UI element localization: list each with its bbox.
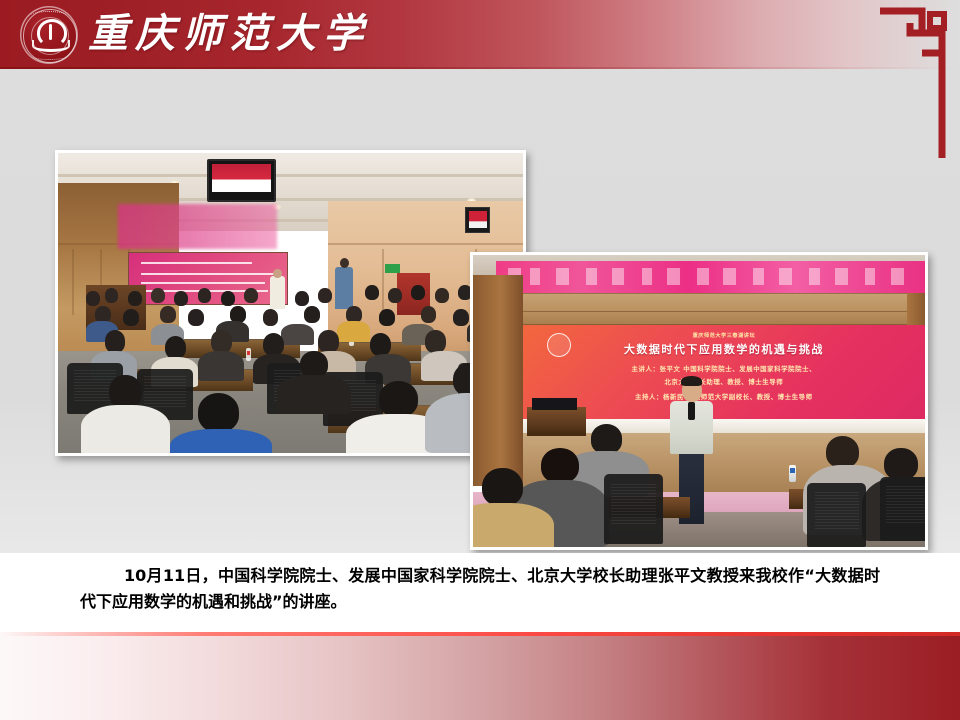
screen-lecture-title: 大数据时代下应用数学的机遇与挑战 <box>539 341 909 357</box>
microphone-icon <box>688 402 695 420</box>
speaker-on-stage-photo: 重庆师范大学三春湖讲坛 大数据时代下应用数学的机遇与挑战 主讲人：张平文 中国科… <box>470 252 928 550</box>
caption-text: 10月11日，中国科学院院士、发展中国家科学院院士、北京大学校长助理张平文教授来… <box>80 563 880 615</box>
stage-lectern <box>527 407 586 436</box>
upper-led-banner <box>496 261 925 293</box>
hall-standing-attendee <box>335 267 354 309</box>
chinese-corner-ornament-top-right <box>880 0 960 158</box>
hall-upper-led-glow <box>118 204 276 249</box>
screen-speaker-line-2: 北京大学校长助理、教授、博士生导师 <box>539 377 909 386</box>
hall-speaker-head <box>273 269 282 279</box>
stage-upper-wall <box>473 293 925 325</box>
screen-forum-subtitle: 重庆师范大学三春湖讲坛 <box>603 332 844 339</box>
stage-led-screen: 重庆师范大学三春湖讲坛 大数据时代下应用数学的机遇与挑战 主讲人：张平文 中国科… <box>523 325 925 418</box>
lecture-hall-audience-photo <box>55 150 526 456</box>
screen-host-line: 主持人：杨新民 重庆师范大学副校长、教授、博士生导师 <box>539 392 909 401</box>
university-seal-icon <box>20 6 78 64</box>
stage-column-left <box>473 275 523 485</box>
hall-side-monitor <box>465 207 490 233</box>
exit-sign-icon <box>385 264 400 273</box>
speaker-hair <box>681 376 702 386</box>
hall-speaker-figure <box>270 276 286 309</box>
footer-decorative-band <box>0 632 960 720</box>
hall-monitor-display <box>207 159 276 202</box>
university-name-title: 重庆师范大学 <box>88 5 370 63</box>
screen-speaker-line-1: 主讲人：张平文 中国科学院院士、发展中国家科学院院士、 <box>539 364 909 373</box>
header-banner: 重庆师范大学 <box>0 0 960 69</box>
presentation-slide: 重庆师范大学 <box>0 0 960 720</box>
